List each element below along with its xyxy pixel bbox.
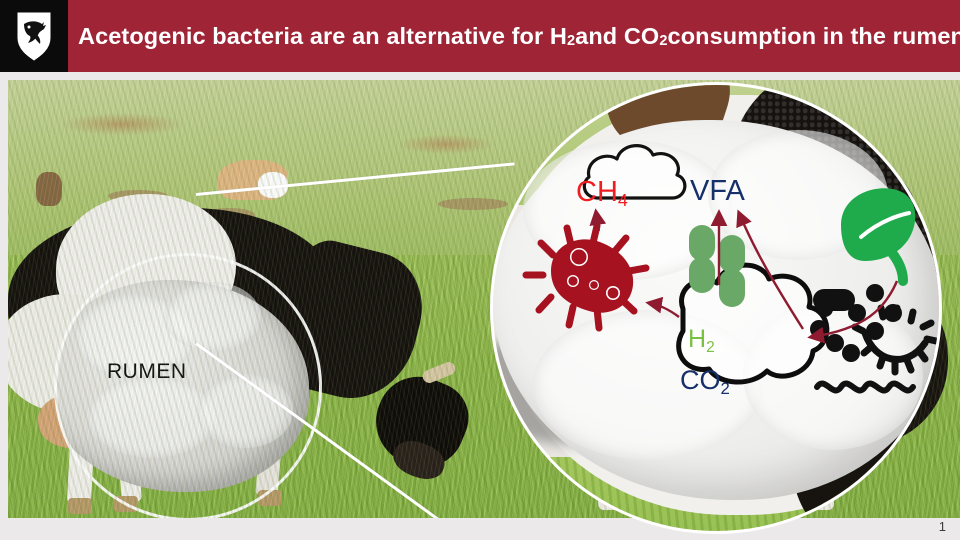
spirochete-icon: [817, 384, 913, 391]
rumen-callout-circle: RUMEN: [54, 253, 322, 518]
slide: Acetogenic bacteria are an alternative f…: [0, 0, 960, 540]
vfa-label: VFA: [690, 175, 745, 208]
rumen-lobe: [165, 282, 261, 352]
slide-number: 1: [939, 519, 946, 534]
title-part-3: consumption in the rumen: [668, 23, 960, 50]
page-title: Acetogenic bacteria are an alternative f…: [78, 0, 946, 72]
grazing-cow: RUMEN: [8, 198, 468, 498]
title-sub-2: 2: [659, 33, 667, 49]
rumen-diagram: [493, 85, 942, 534]
rumen-lobe: [197, 374, 293, 448]
leaf-icon: [841, 188, 915, 281]
arrow-gas-to-methanogen: [649, 303, 679, 317]
methanogen-bacteria-icon: [526, 226, 646, 328]
rumen-label: RUMEN: [107, 360, 187, 384]
h2-label: H2: [688, 325, 715, 354]
ch4-label: CH4: [576, 176, 628, 209]
title-part-1: Acetogenic bacteria are an alternative f…: [78, 23, 567, 50]
title-bar: Acetogenic bacteria are an alternative f…: [0, 0, 960, 72]
background-cow: [218, 160, 288, 200]
cow-hoof: [68, 498, 92, 514]
co2-label: CO2: [680, 365, 730, 396]
title-part-2: and CO: [575, 23, 659, 50]
wsu-cougar-shield-logo: [0, 0, 68, 72]
rumen-magnified-view: [490, 82, 942, 534]
title-sub-1: 2: [567, 33, 575, 49]
